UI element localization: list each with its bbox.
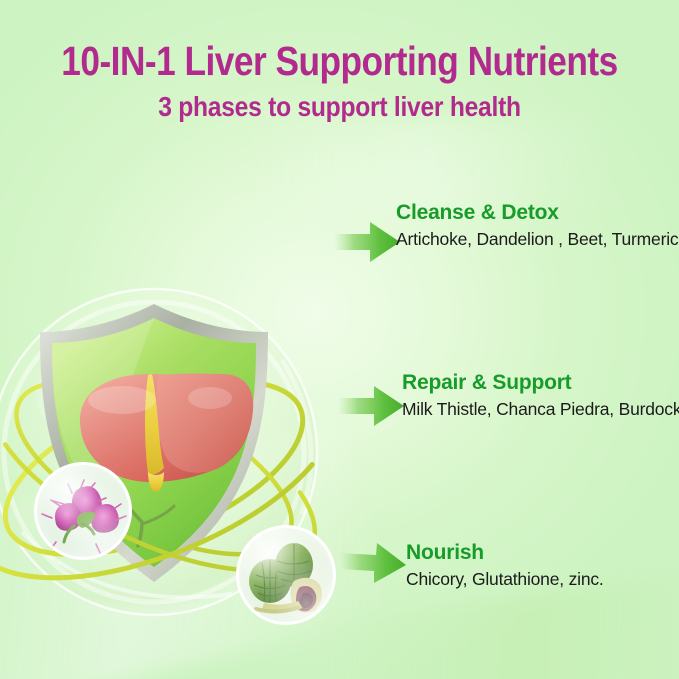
phase-ingredients: Chicory, Glutathione, zinc. bbox=[406, 568, 679, 590]
arrow-nourish bbox=[340, 541, 406, 587]
phase-title: Nourish bbox=[406, 540, 679, 566]
arrow-cleanse-detox bbox=[334, 219, 400, 265]
hero-illustration bbox=[0, 282, 362, 632]
title-block: 10-IN-1 Liver Supporting Nutrients 3 pha… bbox=[0, 38, 679, 124]
phase-block-nourish: Nourish Chicory, Glutathione, zinc. bbox=[406, 540, 679, 590]
page-title: 10-IN-1 Liver Supporting Nutrients bbox=[48, 38, 632, 84]
phase-ingredients: Artichoke, Dandelion , Beet, Turmeric. bbox=[396, 228, 679, 250]
phase-block-repair-support: Repair & Support Milk Thistle, Chanca Pi… bbox=[402, 370, 679, 420]
phase-title: Repair & Support bbox=[402, 370, 679, 396]
page-subtitle: 3 phases to support liver health bbox=[41, 90, 639, 124]
bubble-milk-thistle bbox=[34, 462, 132, 560]
green-arrow-right-icon bbox=[340, 541, 406, 587]
background-light-streak bbox=[250, 120, 610, 210]
artichoke-photo bbox=[236, 525, 336, 625]
phase-block-cleanse-detox: Cleanse & Detox Artichoke, Dandelion , B… bbox=[396, 200, 679, 250]
infographic-poster: 10-IN-1 Liver Supporting Nutrients 3 pha… bbox=[0, 0, 679, 679]
arrow-repair-support bbox=[338, 383, 404, 429]
phase-title: Cleanse & Detox bbox=[396, 200, 679, 226]
green-arrow-right-icon bbox=[334, 219, 400, 265]
phase-ingredients: Milk Thistle, Chanca Piedra, Burdock. bbox=[402, 398, 679, 420]
green-arrow-right-icon bbox=[338, 383, 404, 429]
milk-thistle-photo bbox=[34, 462, 132, 560]
bubble-artichoke bbox=[236, 525, 336, 625]
